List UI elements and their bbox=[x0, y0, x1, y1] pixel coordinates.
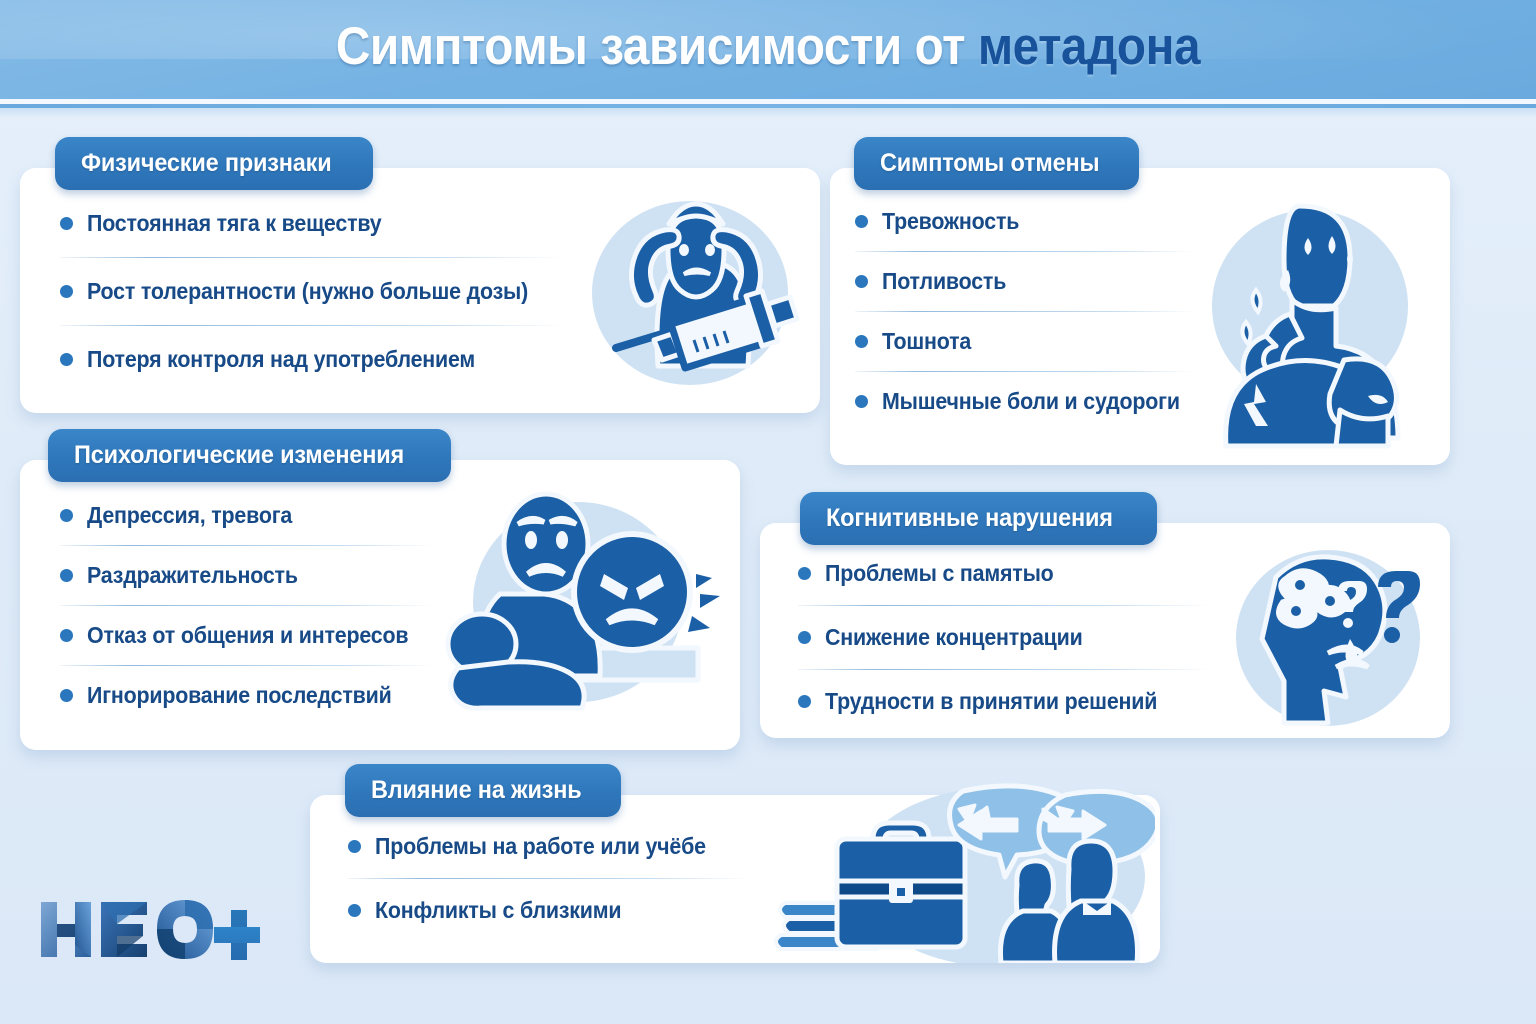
person-sweating-cramps-icon bbox=[1192, 196, 1442, 451]
item-list-physical-signs: Постоянная тяга к веществу Рост толерант… bbox=[60, 210, 580, 373]
card-title: Когнитивные нарушения bbox=[826, 504, 1113, 533]
list-divider bbox=[60, 325, 565, 326]
list-item: Снижение концентрации bbox=[798, 624, 1228, 651]
head-brain-question-icon bbox=[1228, 543, 1443, 733]
page-title-main: Симптомы зависимости от bbox=[336, 17, 978, 76]
bullet-icon bbox=[60, 689, 73, 702]
list-item-label: Депрессия, тревога bbox=[87, 502, 292, 529]
list-divider bbox=[855, 251, 1195, 252]
list-item: Трудности в принятии решений bbox=[798, 688, 1228, 715]
bullet-icon bbox=[348, 904, 361, 917]
card-withdrawal-symptoms: Симптомы отмены Тревожность Потливость Т… bbox=[830, 168, 1450, 465]
list-item-label: Снижение концентрации bbox=[825, 624, 1083, 651]
bullet-icon bbox=[798, 695, 811, 708]
list-item-label: Тревожность bbox=[882, 208, 1019, 235]
list-item: Раздражительность bbox=[60, 562, 460, 589]
list-divider bbox=[60, 257, 565, 258]
person-headache-syringe-icon bbox=[572, 188, 802, 398]
list-item-label: Трудности в принятии решений bbox=[825, 688, 1157, 715]
neo-plus-logo[interactable] bbox=[35, 892, 260, 967]
list-item: Тошнота bbox=[855, 328, 1215, 355]
list-item-label: Проблемы с памятыо bbox=[825, 560, 1054, 587]
list-divider bbox=[348, 878, 748, 879]
card-header-cognitive-impairment: Когнитивные нарушения bbox=[800, 492, 1157, 545]
header-band: Симптомы зависимости от метадона bbox=[0, 0, 1536, 99]
list-item: Тревожность bbox=[855, 208, 1215, 235]
list-divider bbox=[60, 545, 435, 546]
list-divider bbox=[798, 669, 1210, 670]
list-item-label: Раздражительность bbox=[87, 562, 298, 589]
infographic-root: Симптомы зависимости от метадона Физичес… bbox=[0, 0, 1536, 1024]
card-title: Симптомы отмены bbox=[880, 149, 1099, 178]
list-item-label: Проблемы на работе или учёбе bbox=[375, 833, 706, 860]
header-rule-shadow bbox=[0, 108, 1536, 118]
page-title: Симптомы зависимости от метадона bbox=[77, 8, 1459, 86]
list-item-label: Тошнота bbox=[882, 328, 971, 355]
list-divider bbox=[798, 605, 1210, 606]
list-item: Рост толерантности (нужно больше дозы) bbox=[60, 278, 580, 305]
card-physical-signs: Физические признаки Постоянная тяга к ве… bbox=[20, 168, 820, 413]
briefcase-books-arguing-couple-icon bbox=[765, 777, 1155, 963]
item-list-psychological-changes: Депрессия, тревога Раздражительность Отк… bbox=[60, 502, 460, 709]
list-item: Постоянная тяга к веществу bbox=[60, 210, 580, 237]
list-divider bbox=[855, 371, 1195, 372]
bullet-icon bbox=[798, 631, 811, 644]
list-item-label: Мышечные боли и судороги bbox=[882, 388, 1180, 415]
list-item-label: Конфликты с близкими bbox=[375, 897, 621, 924]
card-title: Физические признаки bbox=[81, 149, 331, 178]
card-life-impact: Влияние на жизнь Проблемы на работе или … bbox=[310, 795, 1160, 963]
bullet-icon bbox=[855, 395, 868, 408]
card-header-withdrawal-symptoms: Симптомы отмены bbox=[854, 137, 1139, 190]
card-title: Психологические изменения bbox=[74, 441, 404, 470]
bullet-icon bbox=[855, 335, 868, 348]
item-list-withdrawal-symptoms: Тревожность Потливость Тошнота Мышечные … bbox=[855, 208, 1215, 415]
list-item-label: Постоянная тяга к веществу bbox=[87, 210, 382, 237]
list-item-label: Рост толерантности (нужно больше дозы) bbox=[87, 278, 528, 305]
card-header-life-impact: Влияние на жизнь bbox=[345, 764, 621, 817]
bullet-icon bbox=[60, 509, 73, 522]
card-header-physical-signs: Физические признаки bbox=[55, 137, 373, 190]
item-list-life-impact: Проблемы на работе или учёбе Конфликты с… bbox=[348, 833, 768, 924]
list-item-label: Потливость bbox=[882, 268, 1006, 295]
sad-angry-faces-icon bbox=[438, 482, 728, 722]
list-item: Игнорирование последствий bbox=[60, 682, 460, 709]
bullet-icon bbox=[60, 353, 73, 366]
list-item-label: Потеря контроля над употреблением bbox=[87, 346, 475, 373]
list-item: Отказ от общения и интересов bbox=[60, 622, 460, 649]
card-psychological-changes: Психологические изменения Депрессия, тре… bbox=[20, 460, 740, 750]
list-item: Потливость bbox=[855, 268, 1215, 295]
card-title: Влияние на жизнь bbox=[371, 776, 582, 805]
bullet-icon bbox=[855, 275, 868, 288]
card-cognitive-impairment: Когнитивные нарушения Проблемы с памятыо… bbox=[760, 523, 1450, 738]
list-divider bbox=[60, 605, 435, 606]
list-divider bbox=[855, 311, 1195, 312]
page-title-accent: метадона bbox=[978, 17, 1200, 76]
bullet-icon bbox=[348, 840, 361, 853]
list-item-label: Игнорирование последствий bbox=[87, 682, 392, 709]
bullet-icon bbox=[60, 217, 73, 230]
list-item: Конфликты с близкими bbox=[348, 897, 768, 924]
bullet-icon bbox=[855, 215, 868, 228]
list-item-label: Отказ от общения и интересов bbox=[87, 622, 408, 649]
bullet-icon bbox=[60, 629, 73, 642]
list-item: Мышечные боли и судороги bbox=[855, 388, 1215, 415]
list-item: Депрессия, тревога bbox=[60, 502, 460, 529]
list-item: Проблемы с памятыо bbox=[798, 560, 1228, 587]
list-divider bbox=[60, 665, 435, 666]
card-header-psychological-changes: Психологические изменения bbox=[48, 429, 451, 482]
bullet-icon bbox=[798, 567, 811, 580]
item-list-cognitive-impairment: Проблемы с памятыо Снижение концентрации… bbox=[798, 560, 1228, 715]
bullet-icon bbox=[60, 285, 73, 298]
bullet-icon bbox=[60, 569, 73, 582]
list-item: Потеря контроля над употреблением bbox=[60, 346, 580, 373]
list-item: Проблемы на работе или учёбе bbox=[348, 833, 768, 860]
